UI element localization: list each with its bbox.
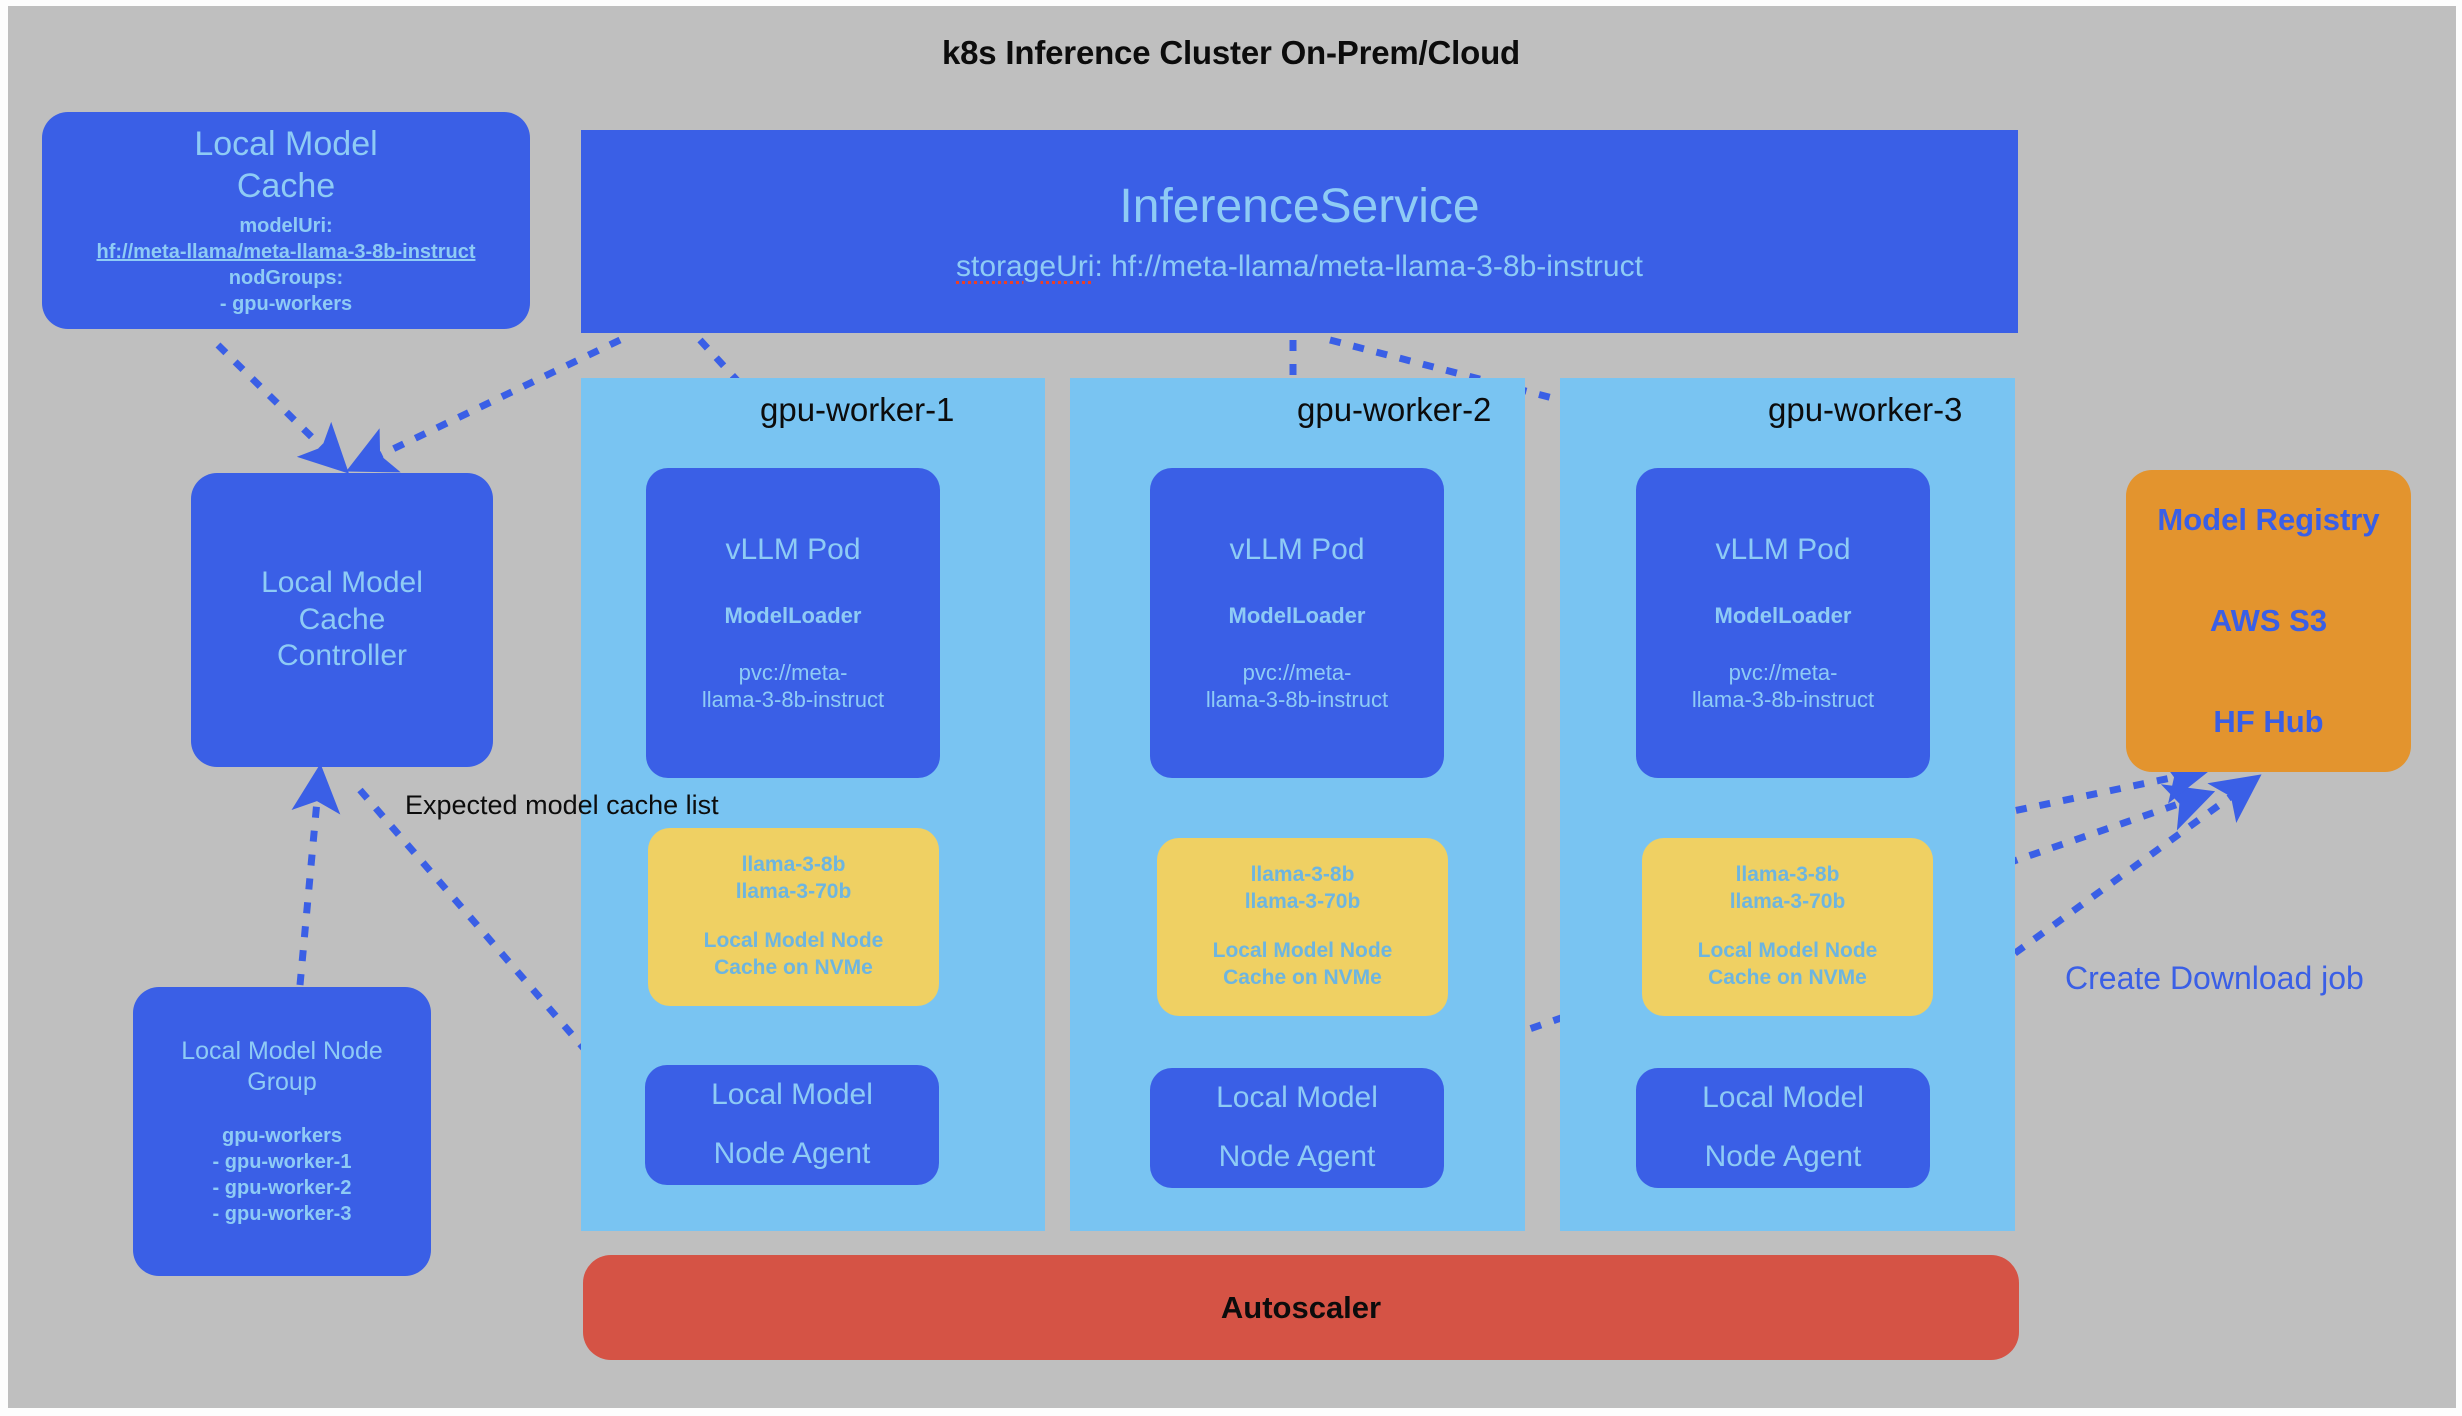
model-registry-line1: Model Registry (2157, 502, 2379, 538)
vllm-pod-2-node[interactable]: vLLM Pod ModelLoader pvc://meta- llama-3… (1150, 468, 1444, 778)
local-model-cache-title-line2: Cache (237, 166, 335, 207)
node-agent-1-line2: Node Agent (714, 1136, 871, 1173)
inference-service-title: InferenceService (1119, 179, 1479, 234)
model-registry-line3: HF Hub (2213, 704, 2323, 740)
node-cache-2-model-1: llama-3-70b (1245, 889, 1361, 916)
controller-line3: Controller (277, 638, 407, 675)
node-group-item-0: gpu-workers (222, 1123, 342, 1149)
vllm-pod-3-node[interactable]: vLLM Pod ModelLoader pvc://meta- llama-3… (1636, 468, 1930, 778)
gpu-worker-1-label: gpu-worker-1 (760, 391, 954, 429)
vllm-pod-1-title: vLLM Pod (725, 532, 860, 569)
node-cache-2-caption-line2: Cache on NVMe (1223, 965, 1382, 992)
create-download-job-annotation: Create Download job (2065, 960, 2364, 997)
node-group-item-3: - gpu-worker-3 (213, 1201, 352, 1227)
storage-uri-key: storageUri (956, 250, 1094, 283)
node-cache-2-caption-line1: Local Model Node (1213, 938, 1393, 965)
vllm-pod-3-title: vLLM Pod (1715, 532, 1850, 569)
model-uri-value[interactable]: hf://meta-llama/meta-llama-3-8b-instruct (97, 239, 476, 265)
local-model-cache-title-line1: Local Model (194, 124, 377, 165)
vllm-pod-1-uri-line2: llama-3-8b-instruct (702, 687, 884, 714)
node-agent-3[interactable]: Local Model Node Agent (1636, 1068, 1930, 1188)
node-cache-1[interactable]: llama-3-8b llama-3-70b Local Model Node … (648, 828, 939, 1006)
node-cache-3-model-0: llama-3-8b (1736, 862, 1840, 889)
model-registry-line2: AWS S3 (2210, 603, 2327, 639)
vllm-pod-2-title: vLLM Pod (1229, 532, 1364, 569)
node-agent-2[interactable]: Local Model Node Agent (1150, 1068, 1444, 1188)
node-cache-3[interactable]: llama-3-8b llama-3-70b Local Model Node … (1642, 838, 1933, 1016)
node-group-item-2: - gpu-worker-2 (213, 1175, 352, 1201)
inference-service-storage-uri: storageUri: hf://meta-llama/meta-llama-3… (956, 250, 1643, 284)
node-cache-1-caption-line2: Cache on NVMe (714, 955, 873, 982)
vllm-pod-1-node[interactable]: vLLM Pod ModelLoader pvc://meta- llama-3… (646, 468, 940, 778)
gpu-worker-2-label: gpu-worker-2 (1297, 391, 1491, 429)
controller-line1: Local Model (261, 565, 423, 602)
autoscaler-node[interactable]: Autoscaler (583, 1255, 2019, 1360)
node-group-item-1: - gpu-worker-1 (213, 1149, 352, 1175)
vllm-pod-1-loader: ModelLoader (725, 603, 862, 630)
storage-uri-separator: : (1094, 250, 1111, 283)
node-groups-value: - gpu-workers (220, 291, 352, 317)
model-registry-node[interactable]: Model Registry AWS S3 HF Hub (2126, 470, 2411, 772)
node-agent-2-line2: Node Agent (1219, 1139, 1376, 1176)
node-agent-2-line1: Local Model (1216, 1080, 1378, 1117)
vllm-pod-3-uri-line2: llama-3-8b-instruct (1692, 687, 1874, 714)
expected-model-cache-list-annotation: Expected model cache list (405, 790, 719, 821)
diagram-canvas: k8s Inference Cluster On-Prem/Cloud (0, 0, 2462, 1416)
node-group-title-line2: Group (247, 1067, 316, 1098)
local-model-cache-node[interactable]: Local Model Cache modelUri: hf://meta-ll… (42, 112, 530, 329)
node-groups-label: nodGroups: (229, 265, 343, 291)
node-cache-3-model-1: llama-3-70b (1730, 889, 1846, 916)
node-group-title-line1: Local Model Node (181, 1036, 383, 1067)
node-agent-1-line1: Local Model (711, 1077, 873, 1114)
node-cache-1-model-1: llama-3-70b (736, 879, 852, 906)
vllm-pod-2-uri-line1: pvc://meta- (1243, 660, 1352, 687)
gpu-worker-3-label: gpu-worker-3 (1768, 391, 1962, 429)
model-uri-label: modelUri: (239, 213, 332, 239)
node-cache-3-caption-line1: Local Model Node (1698, 938, 1878, 965)
node-cache-2[interactable]: llama-3-8b llama-3-70b Local Model Node … (1157, 838, 1448, 1016)
local-model-node-group-node[interactable]: Local Model Node Group gpu-workers - gpu… (133, 987, 431, 1276)
vllm-pod-3-uri-line1: pvc://meta- (1729, 660, 1838, 687)
vllm-pod-3-loader: ModelLoader (1715, 603, 1852, 630)
vllm-pod-2-loader: ModelLoader (1229, 603, 1366, 630)
node-agent-3-line1: Local Model (1702, 1080, 1864, 1117)
node-cache-1-model-0: llama-3-8b (742, 852, 846, 879)
node-agent-3-line2: Node Agent (1705, 1139, 1862, 1176)
node-cache-3-caption-line2: Cache on NVMe (1708, 965, 1867, 992)
local-model-cache-controller-node[interactable]: Local Model Cache Controller (191, 473, 493, 767)
page-title: k8s Inference Cluster On-Prem/Cloud (0, 34, 2462, 72)
node-cache-1-caption-line1: Local Model Node (704, 928, 884, 955)
vllm-pod-2-uri-line2: llama-3-8b-instruct (1206, 687, 1388, 714)
node-cache-2-model-0: llama-3-8b (1251, 862, 1355, 889)
controller-line2: Cache (299, 602, 386, 639)
vllm-pod-1-uri-line1: pvc://meta- (739, 660, 848, 687)
autoscaler-label: Autoscaler (1221, 1290, 1381, 1326)
inference-service-node[interactable]: InferenceService storageUri: hf://meta-l… (581, 130, 2018, 333)
node-agent-1[interactable]: Local Model Node Agent (645, 1065, 939, 1185)
storage-uri-value: hf://meta-llama/meta-llama-3-8b-instruct (1111, 250, 1643, 283)
